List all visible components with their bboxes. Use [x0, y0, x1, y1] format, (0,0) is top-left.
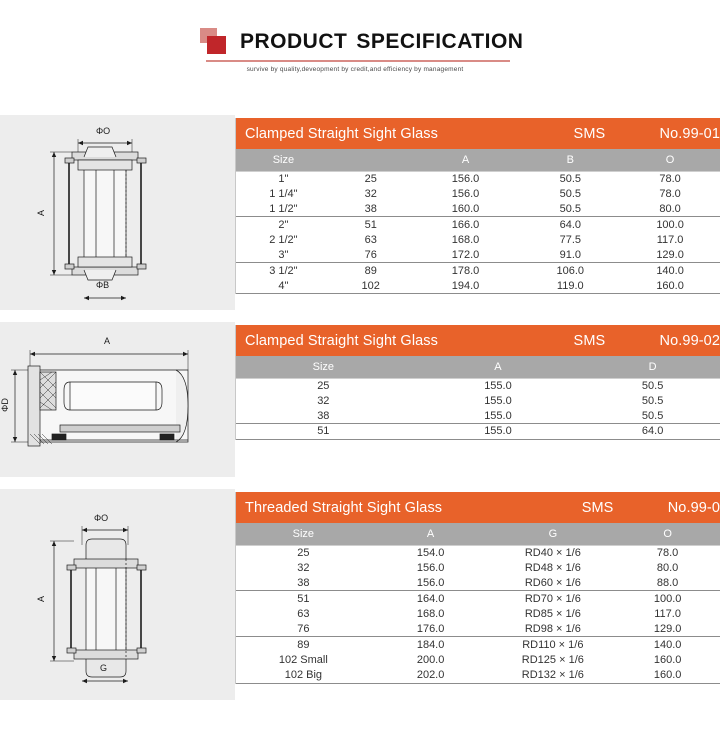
table-row: 25 155.0 50.5: [236, 378, 720, 393]
table-row: 3" 76 172.0 91.0 129.0: [236, 248, 720, 263]
dim-label-a-3: A: [36, 596, 46, 602]
table-column-headers: Size A B O: [236, 149, 720, 171]
table-row: 51 164.0 RD70 × 1/6 100.0: [236, 591, 720, 606]
table-title: Clamped Straight Sight Glass: [245, 333, 574, 349]
cell-b: 50.5: [520, 203, 620, 215]
cell-g: RD48 × 1/6: [490, 562, 615, 574]
cell-d: 50.5: [585, 410, 720, 422]
cell-a: 168.0: [371, 608, 491, 620]
cell-o: 88.0: [615, 577, 720, 589]
cell-a: 200.0: [371, 654, 491, 666]
cell-size: 102 Small: [236, 654, 371, 666]
cell-d: 50.5: [585, 395, 720, 407]
cell-a: 156.0: [411, 173, 521, 185]
cell-g: RD40 × 1/6: [490, 547, 615, 559]
table-body: 25 155.0 50.5 32 155.0 50.5 38 155.0 50.…: [236, 378, 720, 440]
cell-size-inch: 3 1/2": [236, 265, 331, 277]
cell-size: 51: [236, 593, 371, 605]
cell-size-inch: 1 1/4": [236, 188, 331, 200]
table-row: 38 156.0 RD60 × 1/6 88.0: [236, 576, 720, 591]
table-title-bar: Threaded Straight Sight Glass SMS No.99-…: [236, 492, 720, 523]
cell-size-mm: 38: [331, 203, 411, 215]
technical-drawing-threaded-vertical: ΦO A G: [0, 489, 235, 700]
table-row: 102 Small 200.0 RD125 × 1/6 160.0: [236, 653, 720, 668]
cell-b: 119.0: [520, 280, 620, 292]
drawing-panel-clamped-vertical: ΦO A ΦB: [0, 115, 235, 310]
col-header-size: Size: [236, 528, 371, 540]
col-header-g: G: [490, 528, 615, 540]
cell-size-inch: 3": [236, 249, 331, 261]
cell-b: 50.5: [520, 188, 620, 200]
page-subtitle: survive by quality,deveopment by credit,…: [200, 66, 510, 73]
cell-o: 129.0: [620, 249, 720, 261]
cell-b: 64.0: [520, 219, 620, 231]
cell-o: 117.0: [620, 234, 720, 246]
title-row: PRODUCTSPECIFICATION: [200, 28, 520, 56]
cell-size-mm: 89: [331, 265, 411, 277]
table-title: Threaded Straight Sight Glass: [245, 500, 582, 516]
col-header-a: A: [371, 528, 491, 540]
table-row: 102 Big 202.0 RD132 × 1/6 160.0: [236, 668, 720, 683]
table-body: 25 154.0 RD40 × 1/6 78.0 32 156.0 RD48 ×…: [236, 545, 720, 684]
cell-size-mm: 32: [331, 188, 411, 200]
header-inner: PRODUCTSPECIFICATION survive by quality,…: [200, 28, 520, 73]
cell-a: 156.0: [371, 562, 491, 574]
cell-o: 80.0: [620, 203, 720, 215]
col-header-o: O: [615, 528, 720, 540]
cell-a: 160.0: [411, 203, 521, 215]
cell-g: RD60 × 1/6: [490, 577, 615, 589]
dim-label-phi-d-2: ΦD: [0, 398, 10, 412]
cell-a: 178.0: [411, 265, 521, 277]
drawing-panel-clamped-horizontal: A ΦD: [0, 322, 235, 477]
sight-glass-horizontal-svg: [0, 322, 235, 477]
cell-o: 78.0: [615, 547, 720, 559]
cell-size: 102 Big: [236, 669, 371, 681]
cell-a: 202.0: [371, 669, 491, 681]
cell-size-inch: 1 1/2": [236, 203, 331, 215]
col-header-o: O: [620, 154, 720, 166]
table-row: 2 1/2" 63 168.0 77.5 117.0: [236, 233, 720, 248]
table-column-headers: Size A G O: [236, 523, 720, 545]
cell-b: 50.5: [520, 173, 620, 185]
cell-o: 129.0: [615, 623, 720, 635]
cell-o: 100.0: [615, 593, 720, 605]
cell-size: 38: [236, 577, 371, 589]
spec-table-threaded-straight: Threaded Straight Sight Glass SMS No.99-…: [235, 492, 720, 684]
cell-a: 155.0: [411, 410, 586, 422]
cell-o: 160.0: [615, 654, 720, 666]
cell-a: 164.0: [371, 593, 491, 605]
cell-size: 25: [236, 380, 411, 392]
table-title-bar: Clamped Straight Sight Glass SMS No.99-0…: [236, 118, 720, 149]
cell-a: 194.0: [411, 280, 521, 292]
cell-size-mm: 51: [331, 219, 411, 231]
table-row: 32 155.0 50.5: [236, 393, 720, 408]
table-row: 63 168.0 RD85 × 1/6 117.0: [236, 607, 720, 622]
specification-page: PRODUCTSPECIFICATION survive by quality,…: [0, 0, 720, 738]
table-code: No.99-02: [660, 333, 720, 349]
cell-size: 51: [236, 425, 411, 437]
page-title-part2: SPECIFICATION: [356, 30, 523, 53]
cell-a: 155.0: [411, 425, 586, 437]
table-standard: SMS: [574, 333, 660, 349]
cell-size: 63: [236, 608, 371, 620]
spec-table-clamped-straight-99-02: Clamped Straight Sight Glass SMS No.99-0…: [235, 325, 720, 440]
table-row: 32 156.0 RD48 × 1/6 80.0: [236, 560, 720, 575]
title-divider: [206, 60, 510, 62]
col-header-size: Size: [236, 154, 331, 166]
table-row: 1 1/4" 32 156.0 50.5 78.0: [236, 186, 720, 201]
cell-o: 78.0: [620, 188, 720, 200]
table-row: 38 155.0 50.5: [236, 409, 720, 424]
col-header-b: B: [520, 154, 620, 166]
cell-o: 78.0: [620, 173, 720, 185]
page-title: PRODUCTSPECIFICATION: [240, 30, 523, 54]
dim-label-a-1: A: [36, 210, 46, 216]
cell-o: 140.0: [620, 265, 720, 277]
cell-a: 154.0: [371, 547, 491, 559]
document-header: PRODUCTSPECIFICATION survive by quality,…: [0, 0, 720, 95]
cell-a: 176.0: [371, 623, 491, 635]
dim-label-a-2: A: [104, 336, 110, 346]
cell-a: 172.0: [411, 249, 521, 261]
cell-o: 160.0: [620, 280, 720, 292]
col-header-d: D: [585, 361, 720, 373]
cell-size: 76: [236, 623, 371, 635]
cell-size: 38: [236, 410, 411, 422]
table-title-bar: Clamped Straight Sight Glass SMS No.99-0…: [236, 325, 720, 356]
cell-d: 64.0: [585, 425, 720, 437]
technical-drawing-clamped-vertical: ΦO A ΦB: [0, 115, 235, 310]
table-row: 4" 102 194.0 119.0 160.0: [236, 279, 720, 294]
cell-o: 117.0: [615, 608, 720, 620]
cell-size-inch: 1": [236, 173, 331, 185]
cell-g: RD125 × 1/6: [490, 654, 615, 666]
cell-b: 91.0: [520, 249, 620, 261]
table-code: No.99-0: [668, 500, 720, 516]
col-header-a: A: [411, 154, 521, 166]
col-header-a: A: [411, 361, 586, 373]
cell-size: 32: [236, 562, 371, 574]
table-row: 51 155.0 64.0: [236, 424, 720, 439]
threaded-sight-glass-svg: [0, 489, 235, 700]
cell-o: 100.0: [620, 219, 720, 231]
table-standard: SMS: [582, 500, 668, 516]
cell-o: 140.0: [615, 639, 720, 651]
cell-size-mm: 102: [331, 280, 411, 292]
cell-size-mm: 25: [331, 173, 411, 185]
cell-b: 77.5: [520, 234, 620, 246]
dim-label-phi-o-3: ΦO: [94, 513, 108, 523]
cell-a: 155.0: [411, 380, 586, 392]
table-column-headers: Size A D: [236, 356, 720, 378]
cell-o: 80.0: [615, 562, 720, 574]
page-title-part1: PRODUCT: [240, 30, 347, 53]
cell-a: 168.0: [411, 234, 521, 246]
cell-b: 106.0: [520, 265, 620, 277]
cell-a: 155.0: [411, 395, 586, 407]
cell-size-inch: 2": [236, 219, 331, 231]
table-row: 25 154.0 RD40 × 1/6 78.0: [236, 545, 720, 560]
cell-size-inch: 4": [236, 280, 331, 292]
dim-label-phi-b-1: ΦB: [96, 280, 109, 290]
cell-size-inch: 2 1/2": [236, 234, 331, 246]
cell-g: RD98 × 1/6: [490, 623, 615, 635]
spec-table-clamped-straight-99-01: Clamped Straight Sight Glass SMS No.99-0…: [235, 118, 720, 294]
table-row: 76 176.0 RD98 × 1/6 129.0: [236, 622, 720, 637]
cell-a: 166.0: [411, 219, 521, 231]
table-row: 89 184.0 RD110 × 1/6 140.0: [236, 637, 720, 652]
col-header-size: Size: [236, 361, 411, 373]
cell-a: 184.0: [371, 639, 491, 651]
table-row: 3 1/2" 89 178.0 106.0 140.0: [236, 263, 720, 278]
two-red-squares-logo-icon: [200, 28, 230, 56]
technical-drawing-clamped-horizontal: A ΦD: [0, 322, 235, 477]
cell-size-mm: 76: [331, 249, 411, 261]
table-row: 2" 51 166.0 64.0 100.0: [236, 217, 720, 232]
table-body: 1" 25 156.0 50.5 78.0 1 1/4" 32 156.0 50…: [236, 171, 720, 294]
dim-label-g-3: G: [100, 663, 107, 673]
dim-label-phi-o-1: ΦO: [96, 126, 110, 136]
cell-g: RD70 × 1/6: [490, 593, 615, 605]
cell-a: 156.0: [411, 188, 521, 200]
cell-d: 50.5: [585, 380, 720, 392]
cell-g: RD132 × 1/6: [490, 669, 615, 681]
cell-size: 89: [236, 639, 371, 651]
table-row: 1 1/2" 38 160.0 50.5 80.0: [236, 202, 720, 217]
cell-size: 25: [236, 547, 371, 559]
cell-o: 160.0: [615, 669, 720, 681]
cell-a: 156.0: [371, 577, 491, 589]
cell-size-mm: 63: [331, 234, 411, 246]
table-code: No.99-01: [660, 126, 720, 142]
cell-g: RD110 × 1/6: [490, 639, 615, 651]
table-standard: SMS: [574, 126, 660, 142]
drawing-panel-threaded-vertical: ΦO A G: [0, 489, 235, 700]
cell-size: 32: [236, 395, 411, 407]
table-row: 1" 25 156.0 50.5 78.0: [236, 171, 720, 186]
table-title: Clamped Straight Sight Glass: [245, 126, 574, 142]
cell-g: RD85 × 1/6: [490, 608, 615, 620]
